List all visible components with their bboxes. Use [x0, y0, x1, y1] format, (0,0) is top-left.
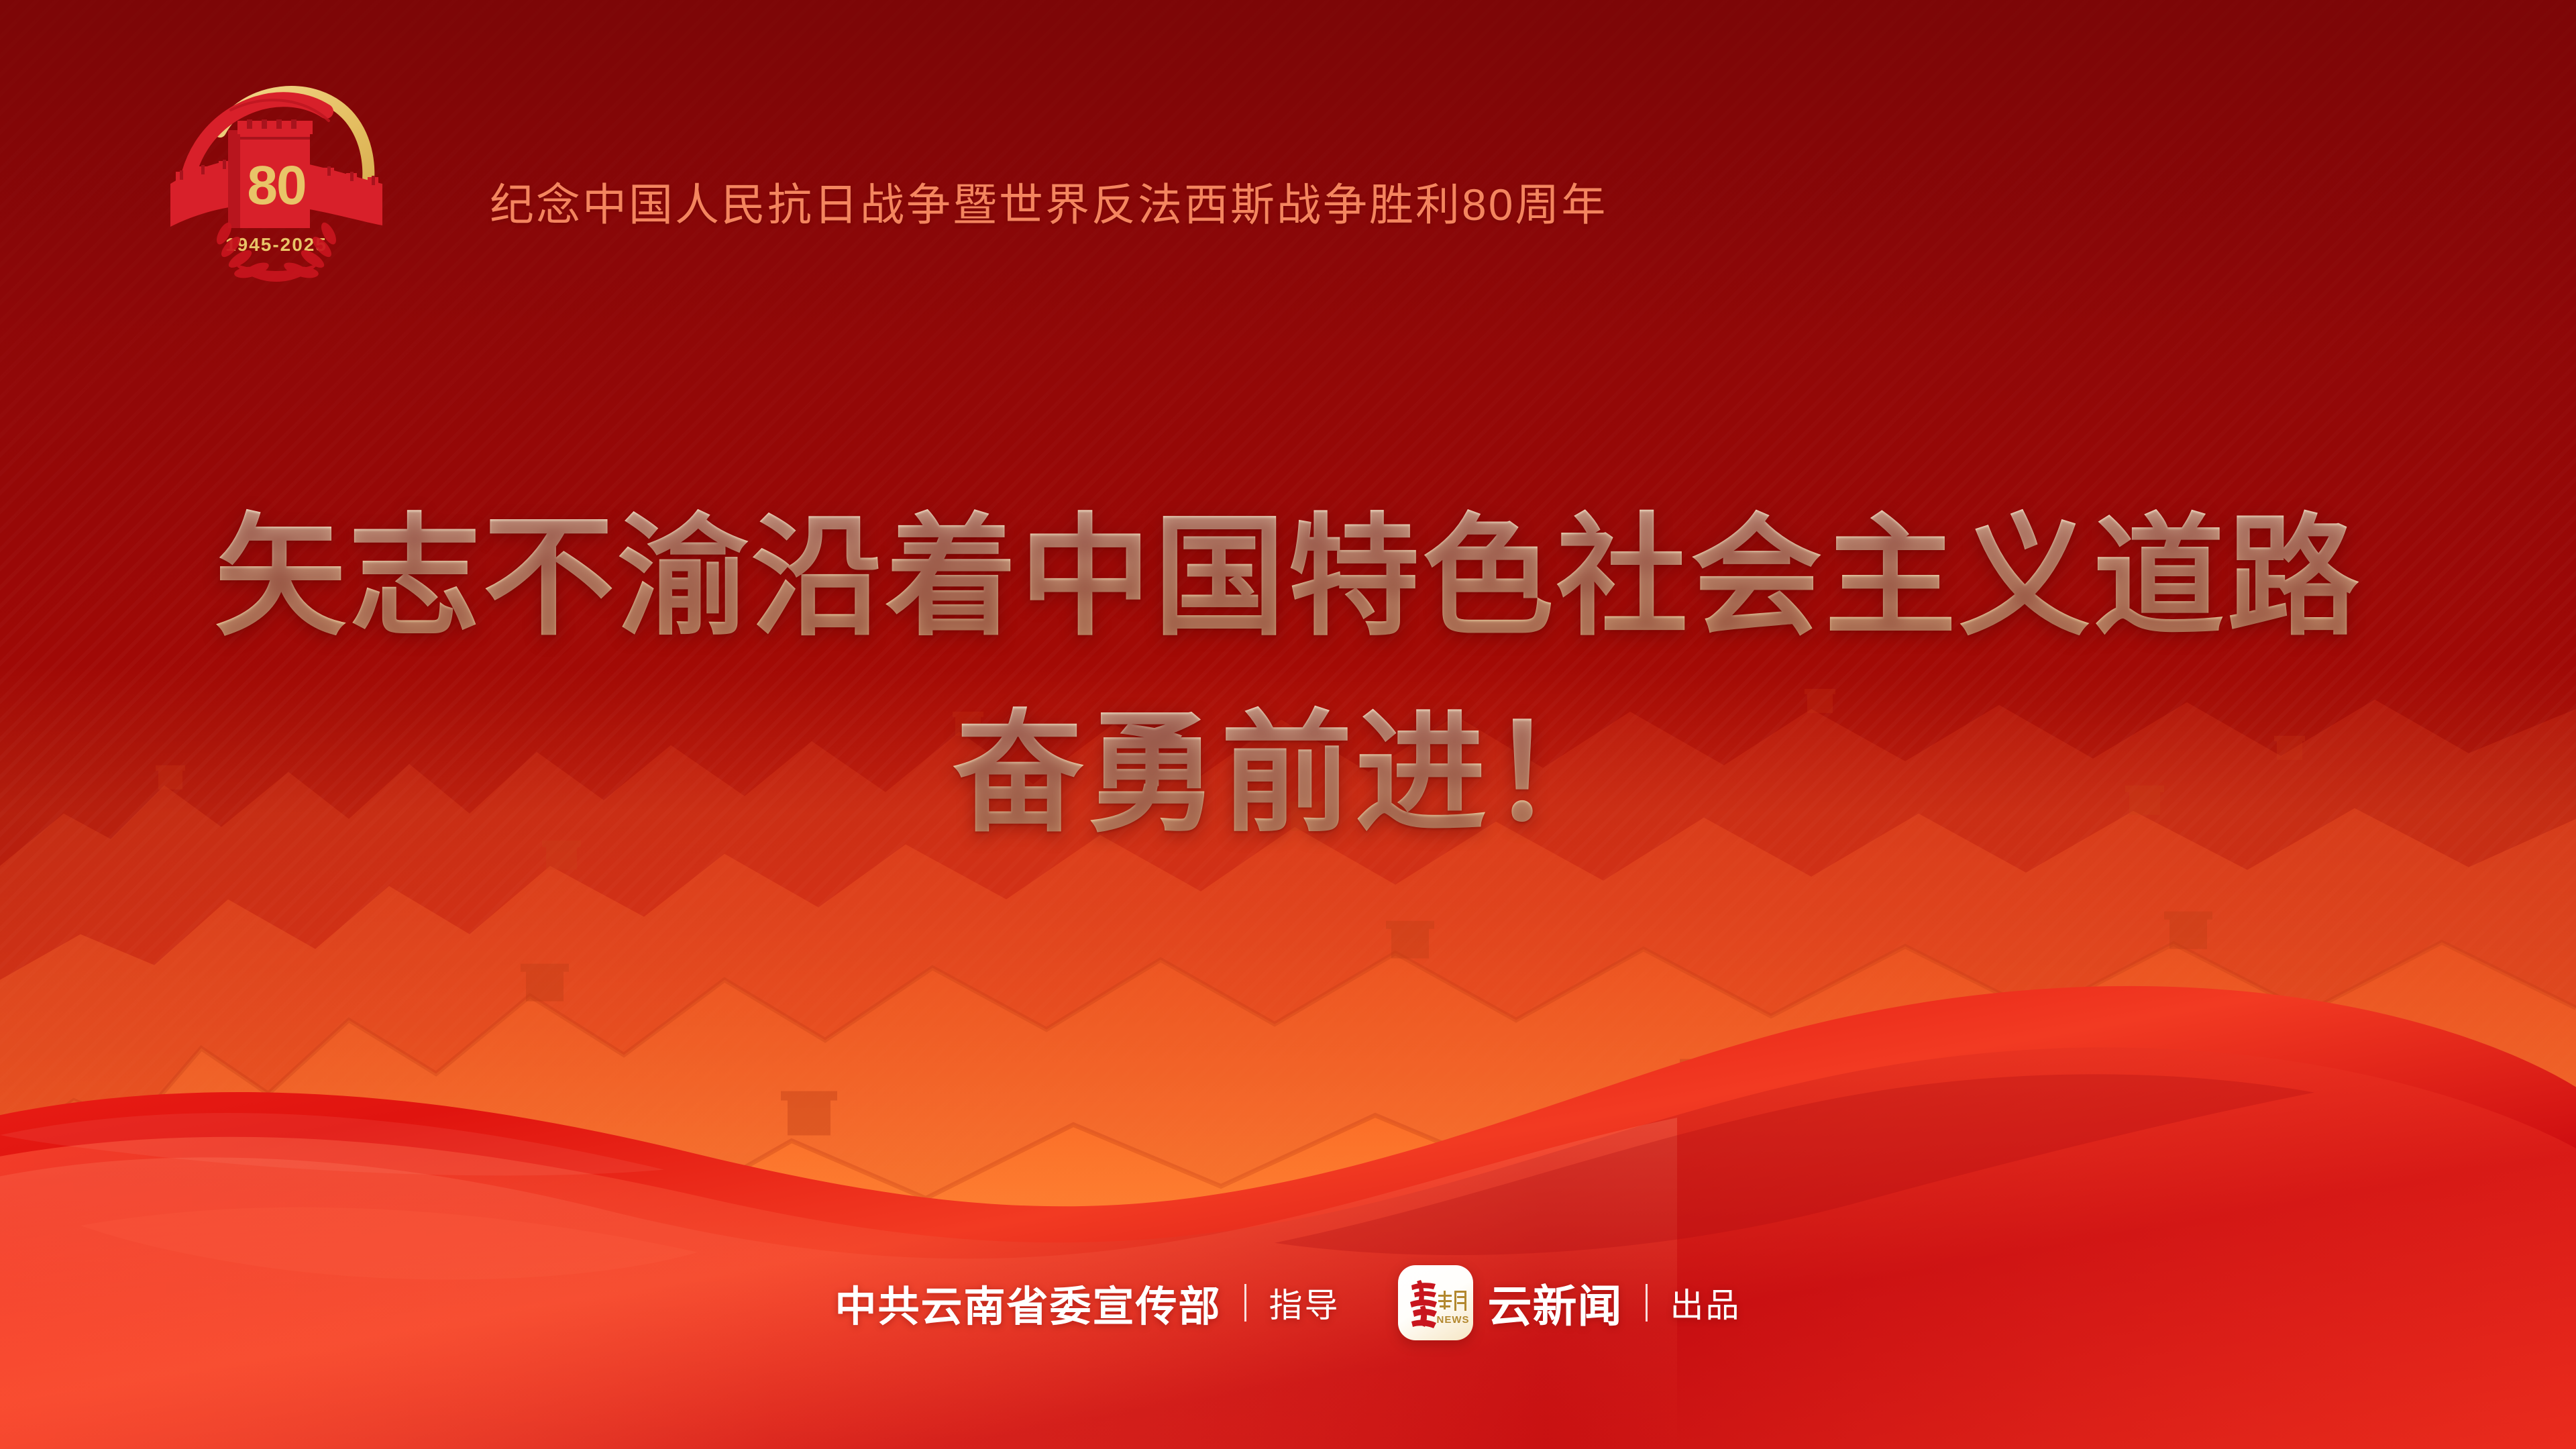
emblem-years: 1945-2025 — [225, 234, 327, 255]
footer-credits: 中共云南省委宣传部 指导 — [0, 1265, 2576, 1340]
main-title-block: 矢志不渝沿着中国特色社会主义道路 奋勇前进！ — [0, 496, 2576, 859]
anniversary-emblem: 80 1945-2025 — [156, 46, 397, 287]
main-title-line-1: 矢志不渝沿着中国特色社会主义道路 — [0, 496, 2576, 662]
footer-organization: 中共云南省委宣传部 — [835, 1273, 1221, 1333]
footer-divider-left — [1244, 1284, 1246, 1322]
footer-brand-role: 出品 — [1670, 1279, 1741, 1327]
footer-organization-role: 指导 — [1269, 1279, 1340, 1327]
commemoration-header-text: 纪念中国人民抗日战争暨世界反法西斯战争胜利80周年 — [490, 182, 1607, 227]
footer-brand-name: 云新闻 — [1488, 1271, 1623, 1335]
yun-news-logo-icon: NEWS — [1398, 1265, 1473, 1340]
red-silk-ribbon — [0, 957, 2576, 1449]
poster-root: 80 1945-2025 — [0, 0, 2576, 1449]
main-title-line-2: 奋勇前进！ — [0, 693, 2576, 859]
svg-text:NEWS: NEWS — [1436, 1314, 1469, 1326]
footer-divider-right — [1646, 1284, 1648, 1322]
emblem-number: 80 — [247, 155, 305, 216]
